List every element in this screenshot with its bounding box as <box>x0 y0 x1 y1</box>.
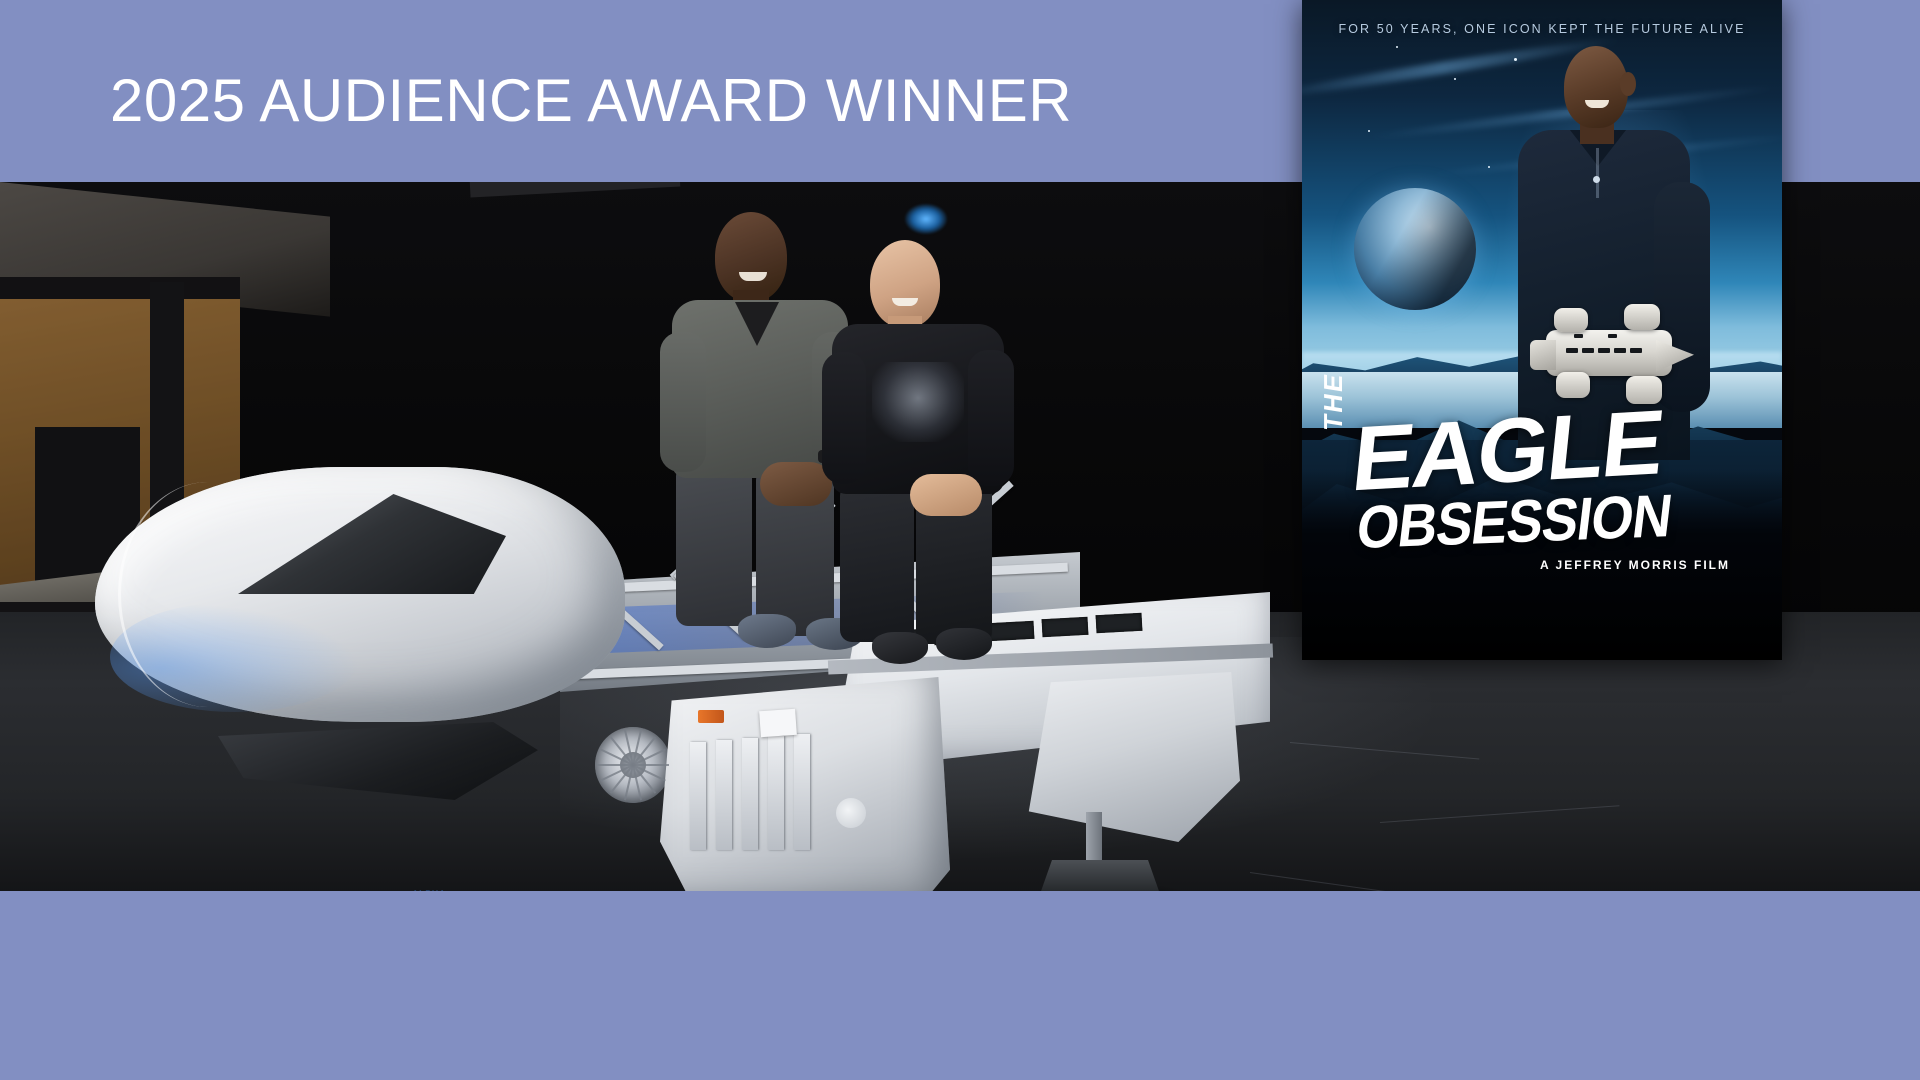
module-orange-marker <box>698 710 724 723</box>
star <box>1454 78 1456 80</box>
poster-credit: A JEFFREY MORRIS FILM <box>1540 558 1730 572</box>
model-window <box>1574 334 1583 338</box>
head <box>715 212 787 302</box>
shoe <box>872 632 928 664</box>
poster-subject-head <box>1564 46 1628 128</box>
model-window <box>1630 348 1642 353</box>
pod-window <box>988 621 1035 641</box>
poster-tagline: FOR 50 YEARS, ONE ICON KEPT THE FUTURE A… <box>1302 22 1782 36</box>
arm <box>968 350 1014 486</box>
module-white-plate <box>759 709 797 737</box>
leg <box>840 484 914 642</box>
poster-title-obsession: OBSESSION <box>1354 489 1674 555</box>
module-rib <box>690 742 706 850</box>
blue-stage-light <box>905 204 947 234</box>
model-nose <box>1656 340 1694 372</box>
clasped-hands <box>910 474 982 516</box>
model-tail <box>1530 340 1556 370</box>
smile <box>892 298 918 306</box>
model-pod <box>1554 308 1588 332</box>
module-rib <box>742 738 758 850</box>
model-window <box>1566 348 1578 353</box>
thruster-vane <box>597 764 633 766</box>
pod-window <box>1096 613 1143 633</box>
model-pod <box>1624 304 1660 330</box>
star <box>1368 130 1370 132</box>
module-rib <box>768 736 784 850</box>
model-window <box>1608 334 1617 338</box>
module-rib <box>716 740 732 850</box>
model-window <box>1614 348 1626 353</box>
star <box>1514 58 1517 61</box>
shoe <box>738 614 796 648</box>
pod-window <box>1042 617 1089 637</box>
arm <box>822 352 866 484</box>
star <box>1396 46 1398 48</box>
award-title: 2025 AUDIENCE AWARD WINNER <box>110 66 1072 135</box>
arm <box>660 332 706 472</box>
award-winner-card: 2025 AUDIENCE AWARD WINNER <box>0 0 1920 1080</box>
leg <box>676 464 752 626</box>
poster-subject-ear <box>1620 72 1636 96</box>
polo-button <box>1593 176 1600 183</box>
film-poster-inset: FOR 50 YEARS, ONE ICON KEPT THE FUTURE A… <box>1302 0 1782 660</box>
planet-terminator <box>1354 188 1476 310</box>
model-window <box>1582 348 1594 353</box>
shoe <box>936 628 992 660</box>
head <box>870 240 940 328</box>
landing-foot <box>1040 860 1160 891</box>
model-pod <box>1556 372 1590 398</box>
bottom-banner: THE EAGLE OBSESSION (Dir: Jeffrey Morris… <box>0 891 1920 1080</box>
model-window <box>1598 348 1610 353</box>
clasped-hands <box>760 462 832 506</box>
wall-shadow <box>0 277 240 299</box>
poster-title-the: THE <box>1318 388 1349 433</box>
polo-placket <box>1596 148 1599 198</box>
module-rib <box>794 734 810 850</box>
tshirt-graphic <box>872 362 964 442</box>
module-porthole <box>836 798 866 828</box>
star <box>1488 166 1490 168</box>
